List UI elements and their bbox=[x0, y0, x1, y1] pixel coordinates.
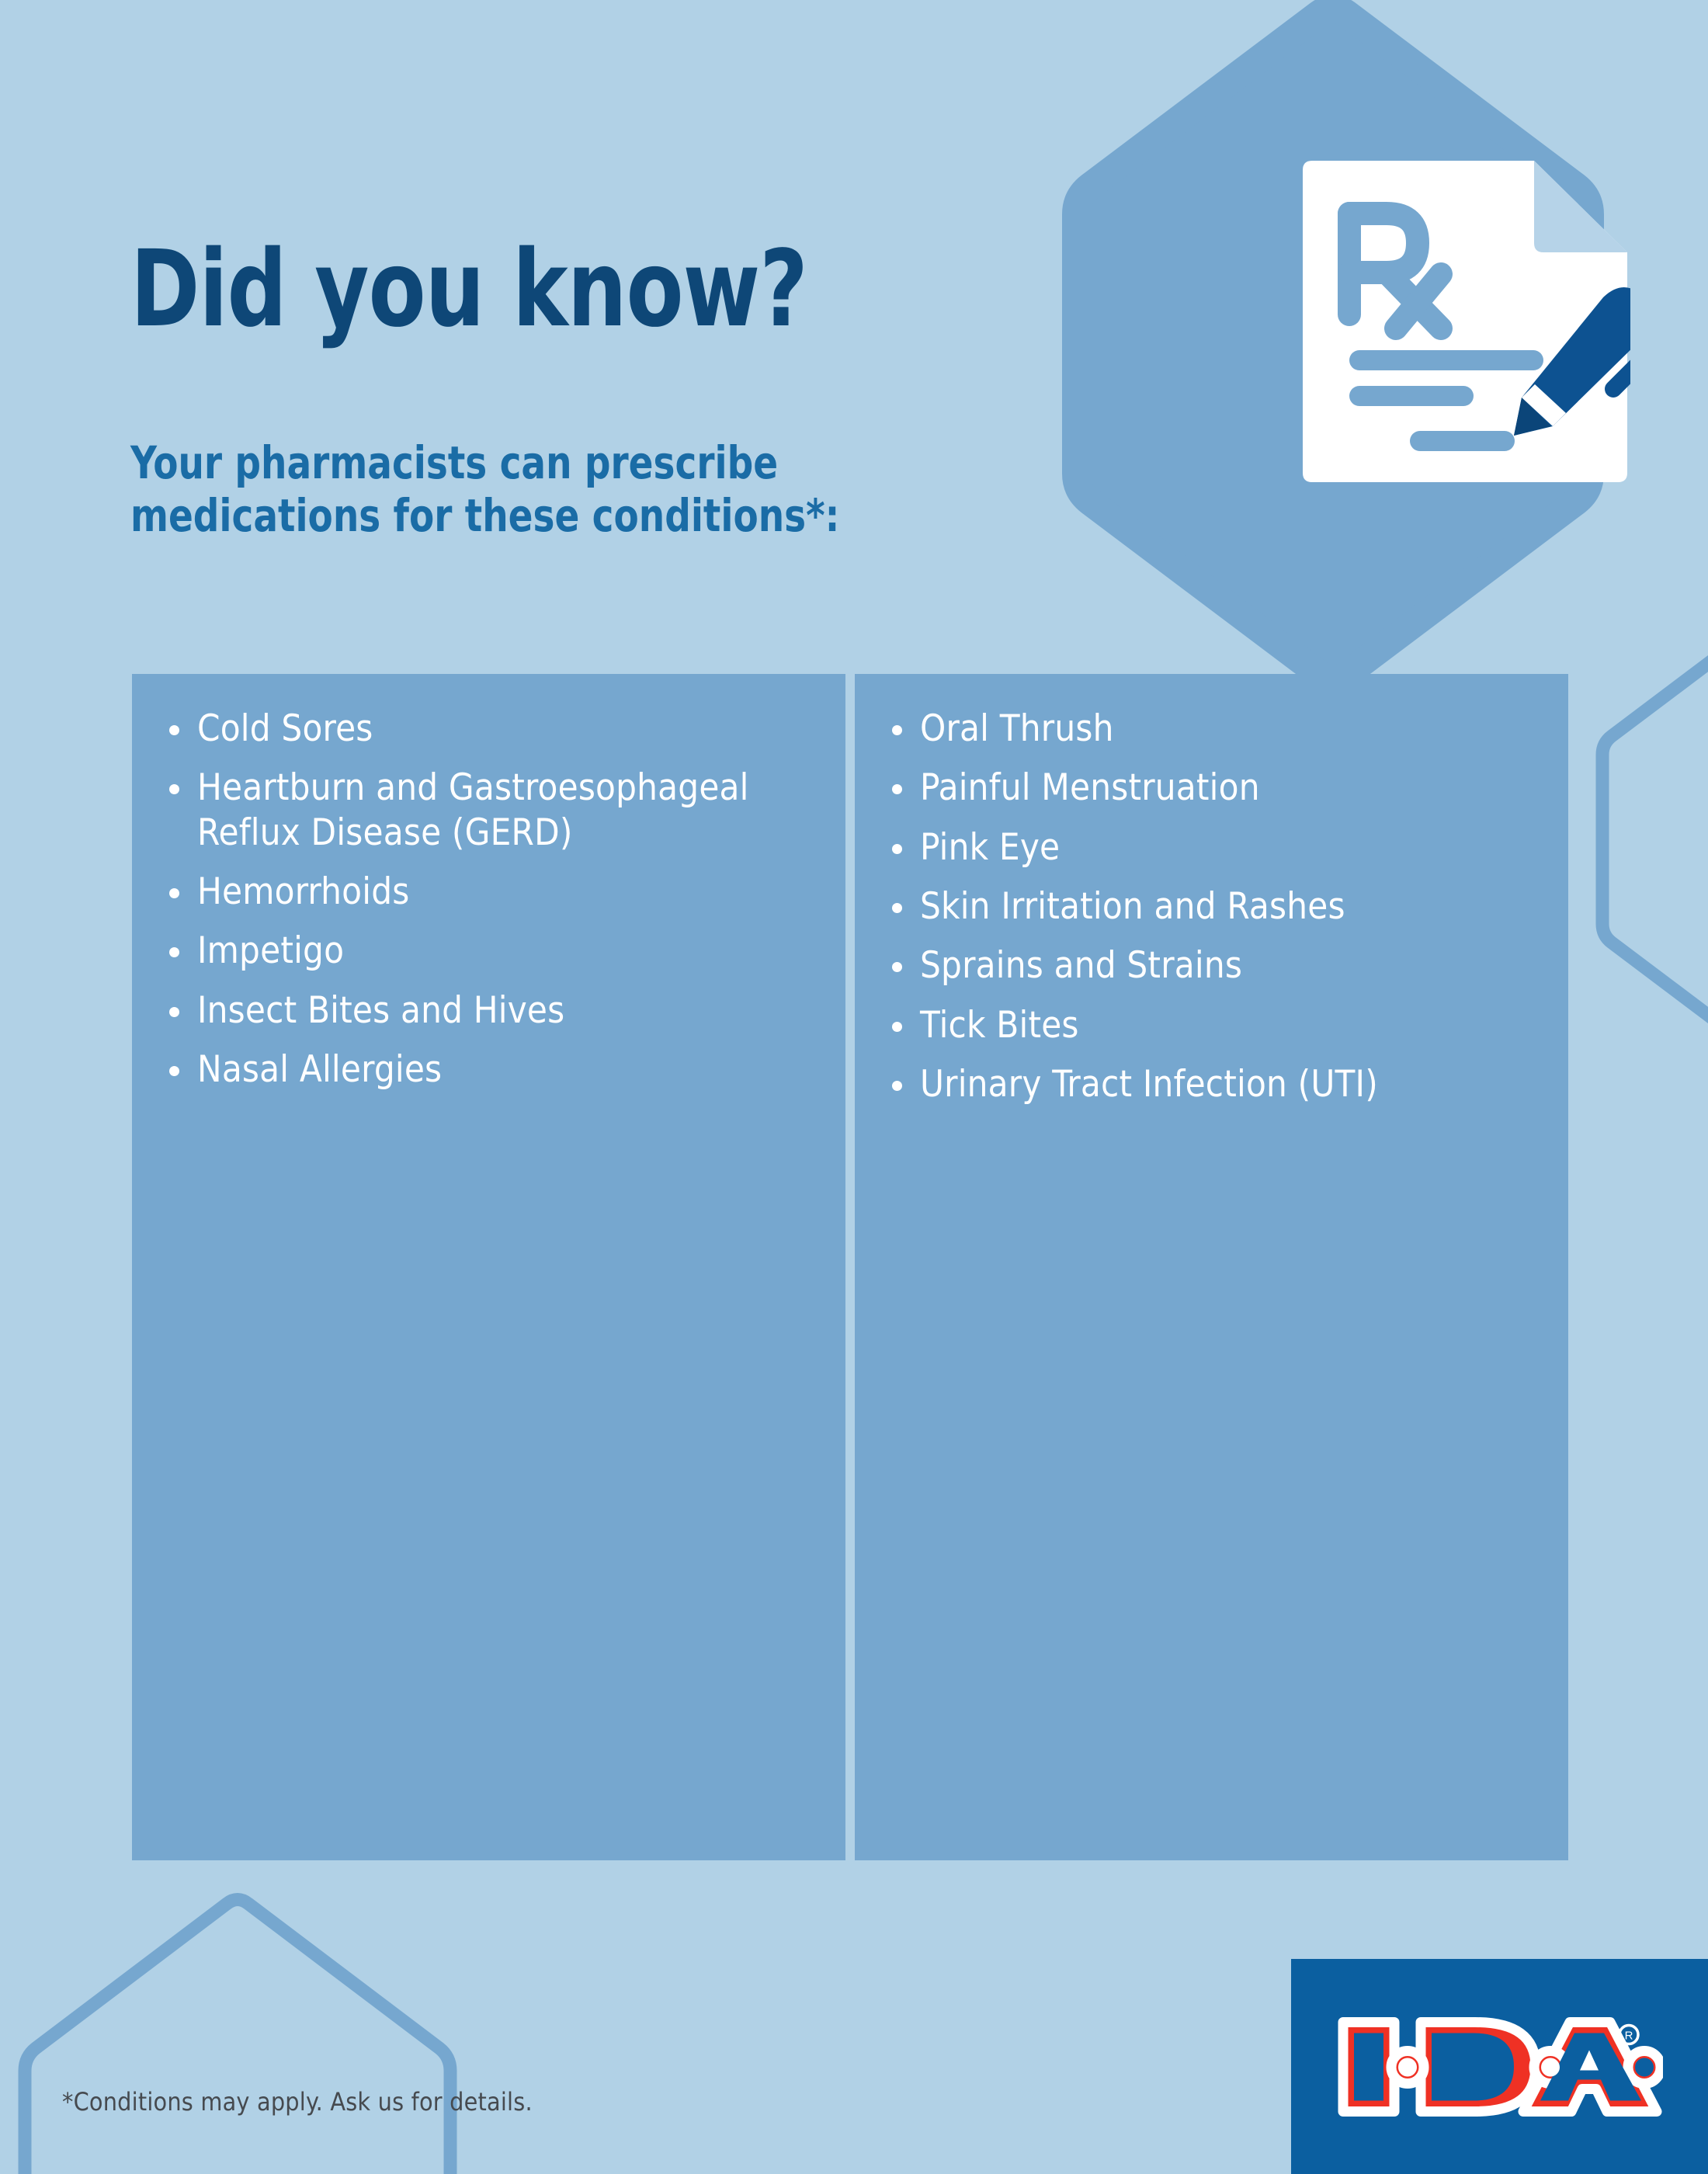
subheading: Your pharmacists can prescribe medicatio… bbox=[130, 436, 1039, 543]
list-item: Cold Sores bbox=[163, 707, 822, 751]
poster-canvas: Did you know? Your pharmacists can presc… bbox=[0, 0, 1708, 2174]
document-line bbox=[1349, 386, 1474, 406]
ida-logo: R bbox=[1337, 2014, 1663, 2119]
list-item: Nasal Allergies bbox=[163, 1047, 822, 1092]
document-signature-line bbox=[1410, 431, 1515, 451]
conditions-list-left: Cold Sores Heartburn and Gastroesophagea… bbox=[163, 707, 822, 1092]
hexagon-outline-icon bbox=[25, 1900, 450, 2174]
list-item: Hemorrhoids bbox=[163, 870, 822, 914]
list-item: Pink Eye bbox=[886, 825, 1545, 870]
list-item: Impetigo bbox=[163, 929, 822, 973]
list-item: Sprains and Strains bbox=[886, 943, 1545, 988]
svg-text:R: R bbox=[1624, 2029, 1633, 2042]
footnote: *Conditions may apply. Ask us for detail… bbox=[62, 2087, 533, 2117]
document-line bbox=[1349, 350, 1543, 370]
list-item: Oral Thrush bbox=[886, 707, 1545, 751]
ida-logo-block: R bbox=[1291, 1959, 1708, 2174]
page-title: Did you know? bbox=[130, 237, 807, 342]
conditions-panels: Cold Sores Heartburn and Gastroesophagea… bbox=[132, 674, 1568, 1860]
prescription-document-icon bbox=[1289, 159, 1630, 493]
list-item: Heartburn and Gastroesophageal Reflux Di… bbox=[163, 766, 822, 855]
subheading-line-2: medications for these conditions*: bbox=[130, 489, 1039, 542]
list-item: Urinary Tract Infection (UTI) bbox=[886, 1062, 1545, 1106]
list-item: Skin Irritation and Rashes bbox=[886, 884, 1545, 929]
hexagon-outline-icon bbox=[1602, 622, 1708, 1057]
document-folded-corner bbox=[1534, 161, 1627, 252]
list-item: Painful Menstruation bbox=[886, 766, 1545, 810]
subheading-line-1: Your pharmacists can prescribe bbox=[130, 436, 1039, 489]
conditions-list-right: Oral Thrush Painful Menstruation Pink Ey… bbox=[886, 707, 1545, 1106]
conditions-panel-right: Oral Thrush Painful Menstruation Pink Ey… bbox=[855, 674, 1568, 1860]
conditions-panel-left: Cold Sores Heartburn and Gastroesophagea… bbox=[132, 674, 845, 1860]
list-item: Tick Bites bbox=[886, 1003, 1545, 1047]
list-item: Insect Bites and Hives bbox=[163, 988, 822, 1033]
